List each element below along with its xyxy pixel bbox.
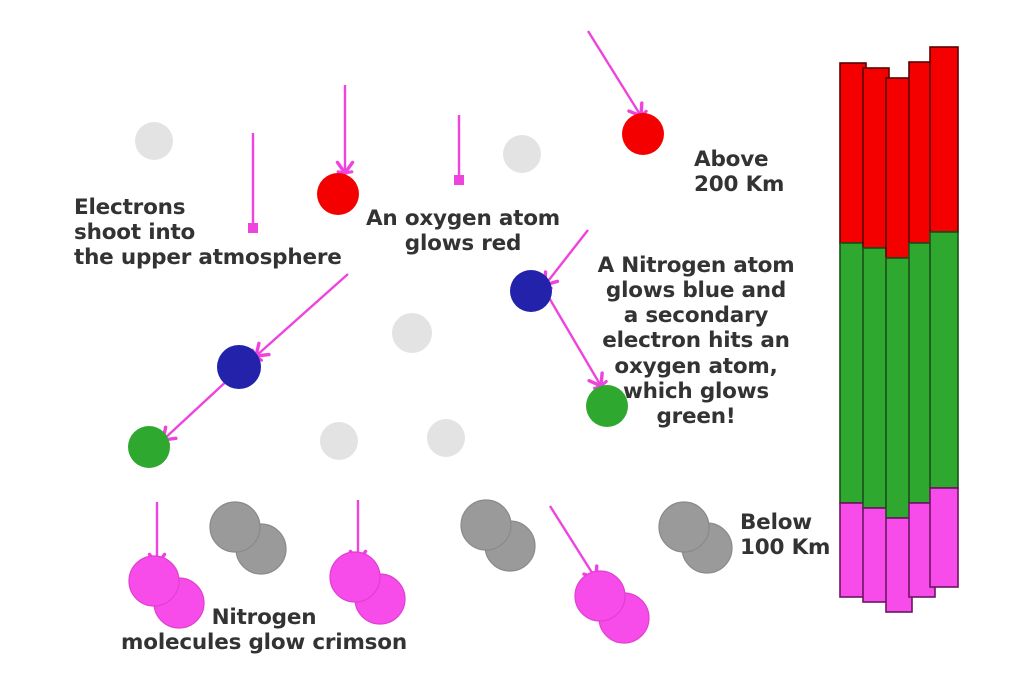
electron-track-layer: [149, 31, 646, 582]
bar-3-segment-below-100km: [886, 518, 912, 612]
bar-5: [930, 47, 958, 587]
nitrogen-molecule-crimson-3-atom-a: [575, 571, 625, 621]
nitrogen-molecule-crimson-3: [575, 571, 649, 643]
neutral-atom-4: [320, 422, 358, 460]
altitude-bar-chart: [840, 47, 958, 612]
nitrogen-molecule-gray-1-atom-a: [210, 502, 260, 552]
electron-track-vertical-3-endpoint: [454, 175, 464, 185]
electron-track-vertical-2-arrowhead-spur: [338, 172, 345, 173]
chart-label-above-200km: Above 200 Km: [694, 147, 784, 197]
bar-1-segment-below-100km: [840, 503, 866, 597]
electron-track-caption-to-blue-left: [256, 274, 348, 356]
nitrogen-molecule-crimson-2-atom-a: [330, 552, 380, 602]
caption-electrons: Electrons shoot into the upper atmospher…: [74, 195, 342, 270]
bar-3-segment-mid: [886, 258, 912, 518]
neutral-atom-3: [392, 313, 432, 353]
bar-2-segment-mid: [863, 248, 889, 508]
electron-track-blue-to-green-left: [163, 377, 231, 440]
oxygen-green-atom-left: [128, 426, 170, 468]
bar-5-segment-above-200km: [930, 47, 958, 232]
oxygen-red-atom-top: [622, 113, 664, 155]
bar-5-segment-below-100km: [930, 488, 958, 587]
neutral-atom-1: [135, 122, 173, 160]
bar-5-segment-mid: [930, 232, 958, 488]
neutral-atom-5: [427, 419, 465, 457]
nitrogen-blue-atom-left: [217, 345, 261, 389]
bar-1-segment-above-200km: [840, 63, 866, 243]
bar-2-segment-below-100km: [863, 508, 889, 602]
neutral-atom-2: [503, 135, 541, 173]
bar-3-segment-above-200km: [886, 78, 912, 258]
caption-oxygen-red: An oxygen atom glows red: [356, 206, 570, 256]
nitrogen-molecule-gray-1: [210, 502, 286, 574]
caption-nitrogen-crimson: Nitrogen molecules glow crimson: [102, 605, 426, 655]
nitrogen-molecule-crimson-1-atom-a: [129, 556, 179, 606]
caption-nitrogen-blue: A Nitrogen atom glows blue and a seconda…: [578, 253, 814, 429]
aurora-diagram: Electrons shoot into the upper atmospher…: [0, 0, 1024, 680]
bar-2-segment-above-200km: [863, 68, 889, 248]
bar-3: [886, 78, 912, 612]
bar-1-segment-mid: [840, 243, 866, 503]
electron-track-diagonal-topright: [588, 31, 641, 116]
nitrogen-molecule-gray-2: [461, 500, 535, 571]
nitrogen-molecule-gray-2-atom-a: [461, 500, 511, 550]
electron-track-down-to-molecule-3: [550, 506, 596, 579]
bar-1: [840, 63, 866, 597]
chart-label-below-100km: Below 100 Km: [740, 510, 830, 560]
nitrogen-molecule-gray-3-atom-a: [659, 502, 709, 552]
nitrogen-blue-atom-right: [510, 270, 552, 312]
diagram-artwork: [0, 0, 1024, 680]
bar-2: [863, 68, 889, 602]
nitrogen-molecule-gray-3: [659, 502, 732, 573]
